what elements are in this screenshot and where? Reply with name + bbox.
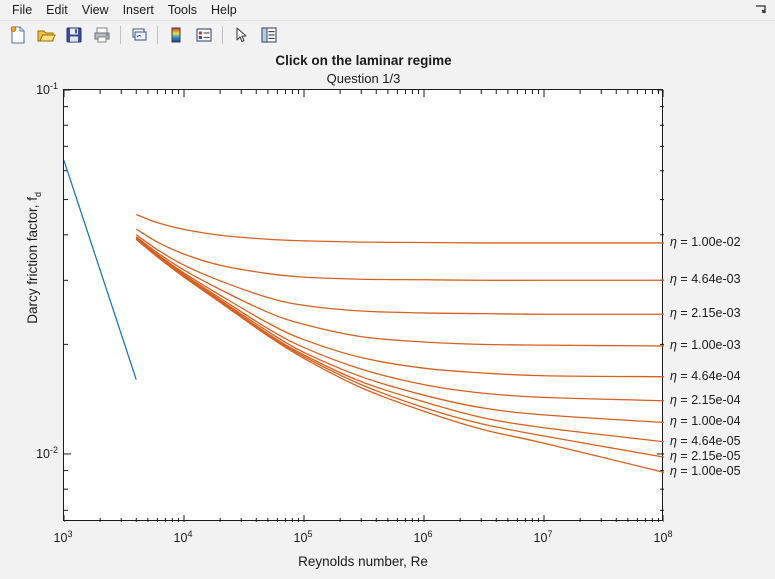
arrow-cursor-icon <box>231 25 251 45</box>
menu-tools[interactable]: Tools <box>162 1 203 19</box>
menu-edit[interactable]: Edit <box>40 1 74 19</box>
x-tick-label: 108 <box>654 529 673 545</box>
figure-canvas[interactable]: Click on the laminar regime Question 1/3… <box>0 49 775 579</box>
pointer-select-button[interactable] <box>230 24 252 46</box>
floppy-disk-icon <box>64 25 84 45</box>
legend-eta-1.00e-03: η = 1.00e-03 <box>670 338 741 352</box>
legend-eta-2.15e-04: η = 2.15e-04 <box>670 393 741 407</box>
collapse-arrow-icon[interactable] <box>753 3 769 17</box>
legend-eta-1.00e-04: η = 1.00e-04 <box>670 414 741 428</box>
x-axis-label: Reynolds number, Re <box>63 554 663 569</box>
x-tick-label: 107 <box>534 529 553 545</box>
legend: η = 1.00e-02η = 4.64e-03η = 2.15e-03η = … <box>670 89 775 529</box>
menu-file[interactable]: File <box>6 1 38 19</box>
property-editor-button[interactable] <box>258 24 280 46</box>
legend-eta-1.00e-05: η = 1.00e-05 <box>670 464 741 478</box>
property-editor-icon <box>259 25 279 45</box>
legend-icon <box>194 25 214 45</box>
toolbar-separator-2 <box>157 26 158 44</box>
link-plot-button[interactable] <box>128 24 150 46</box>
toolbar <box>0 21 775 50</box>
x-tick-label: 106 <box>414 529 433 545</box>
menu-insert[interactable]: Insert <box>117 1 160 19</box>
legend-button[interactable] <box>193 24 215 46</box>
colorbar-button[interactable] <box>165 24 187 46</box>
open-folder-icon <box>36 25 56 45</box>
menu-bar: File Edit View Insert Tools Help <box>0 0 775 21</box>
legend-eta-4.64e-05: η = 4.64e-05 <box>670 434 741 448</box>
menu-view[interactable]: View <box>76 1 115 19</box>
y-tick-label: 10-1 <box>6 81 58 97</box>
x-tick-label: 104 <box>174 529 193 545</box>
legend-eta-2.15e-05: η = 2.15e-05 <box>670 449 741 463</box>
toolbar-separator-3 <box>222 26 223 44</box>
y-axis-label: Darcy friction factor, fd <box>25 128 43 388</box>
x-tick-label: 105 <box>294 529 313 545</box>
open-file-button[interactable] <box>35 24 57 46</box>
new-document-icon <box>8 25 28 45</box>
x-tick-labels: 103104105106107108 <box>0 49 775 579</box>
save-figure-button[interactable] <box>63 24 85 46</box>
toolbar-separator-1 <box>120 26 121 44</box>
new-figure-button[interactable] <box>7 24 29 46</box>
legend-eta-2.15e-03: η = 2.15e-03 <box>670 306 741 320</box>
legend-eta-4.64e-04: η = 4.64e-04 <box>670 369 741 383</box>
print-figure-button[interactable] <box>91 24 113 46</box>
colorbar-icon <box>166 25 186 45</box>
link-plot-icon <box>129 25 149 45</box>
printer-icon <box>92 25 112 45</box>
menu-help[interactable]: Help <box>205 1 243 19</box>
legend-eta-1.00e-02: η = 1.00e-02 <box>670 235 741 249</box>
legend-eta-4.64e-03: η = 4.64e-03 <box>670 272 741 286</box>
y-tick-label: 10-2 <box>6 445 58 461</box>
